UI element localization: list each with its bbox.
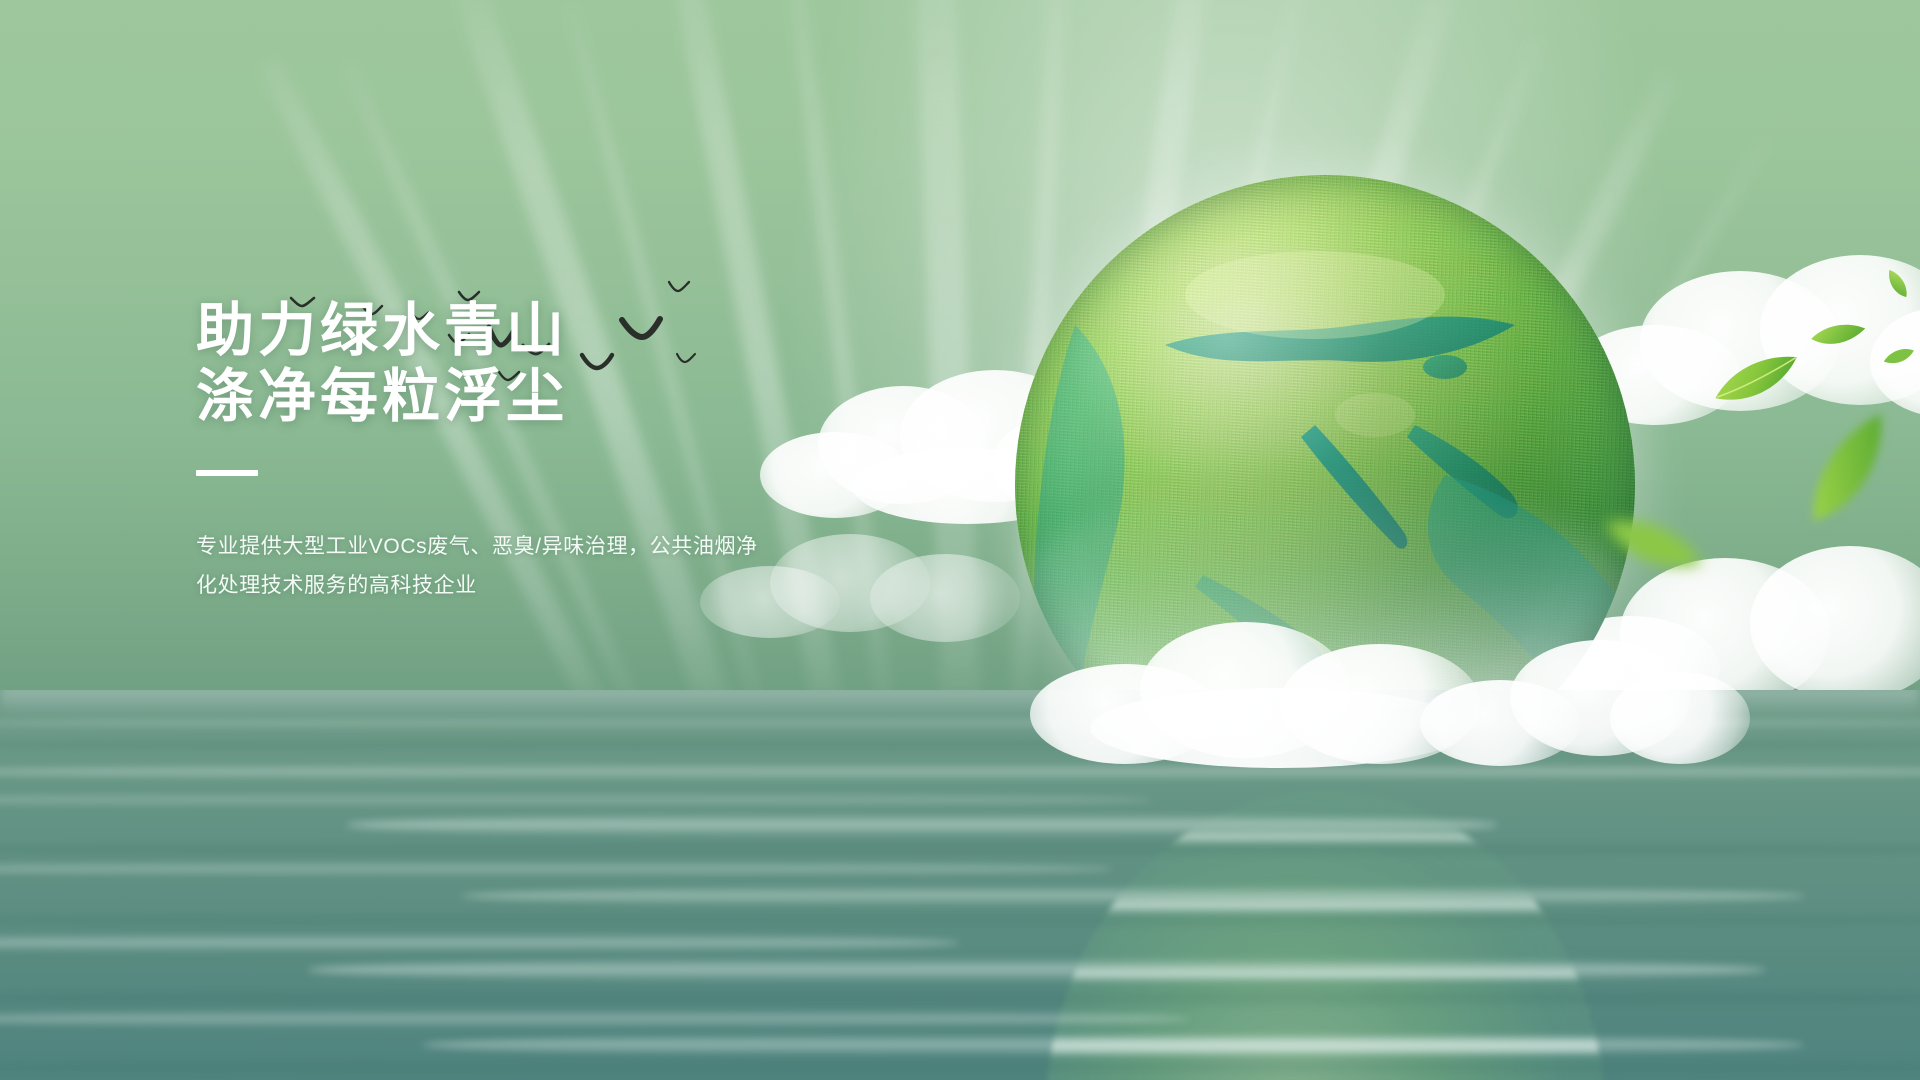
subtitle-line-2: 化处理技术服务的高科技企业 — [196, 567, 736, 606]
water-surface — [0, 690, 1920, 1080]
leaf-sharp-small-right — [1880, 343, 1918, 371]
title-divider — [196, 470, 258, 476]
headline-line-1: 助力绿水青山 — [196, 298, 568, 363]
leaf-sharp-small-top — [1880, 265, 1913, 303]
leaf-sharp-mid — [1808, 316, 1870, 353]
banner-subtitle: 专业提供大型工业VOCs废气、恶臭/异味治理，公共油烟净 化处理技术服务的高科技… — [196, 528, 736, 606]
hero-banner: 助力绿水青山 涤净每粒浮尘 专业提供大型工业VOCs废气、恶臭/异味治理，公共油… — [0, 0, 1920, 1080]
banner-copy: 助力绿水青山 涤净每粒浮尘 专业提供大型工业VOCs废气、恶臭/异味治理，公共油… — [196, 298, 896, 606]
page-title: 助力绿水青山 涤净每粒浮尘 — [196, 298, 896, 430]
headline-line-2: 涤净每粒浮尘 — [196, 364, 896, 430]
leaf-blurred-large — [1791, 399, 1909, 540]
subtitle-line-1: 专业提供大型工业VOCs废气、恶臭/异味治理，公共油烟净 — [196, 528, 736, 567]
leaf-sharp-large — [1705, 338, 1810, 422]
